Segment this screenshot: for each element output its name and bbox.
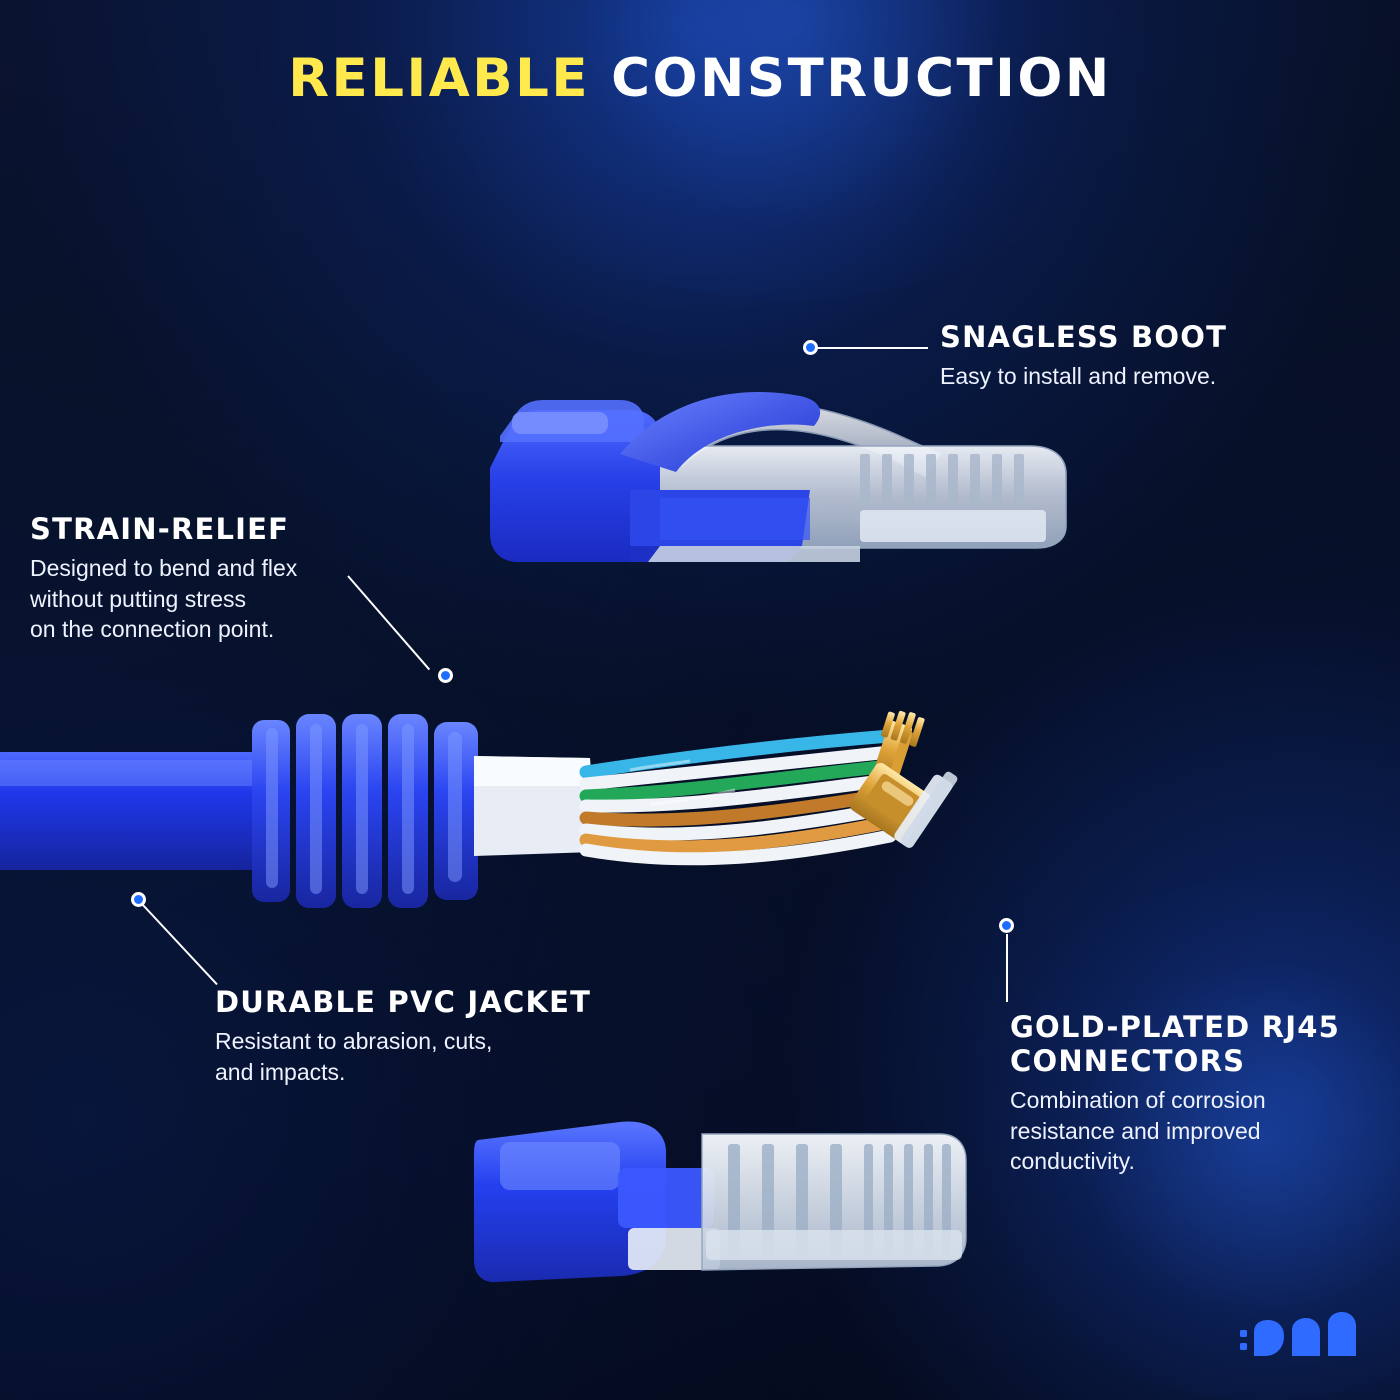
cable-assembly-illustration (0, 700, 1060, 930)
callout-title: STRAIN-RELIEF (30, 512, 460, 546)
callout-gold-plated-rj45-connectors: GOLD-PLATED RJ45 CONNECTORS Combination … (1010, 1010, 1370, 1177)
callout-title: SNAGLESS BOOT (940, 320, 1360, 354)
page-title-highlight: RELIABLE (288, 48, 590, 109)
callout-dot-snagless-boot (803, 340, 818, 355)
callout-body: Designed to bend and flex without puttin… (30, 553, 460, 644)
callout-durable-pvc-jacket: DURABLE PVC JACKET Resistant to abrasion… (215, 985, 685, 1087)
callout-title: GOLD-PLATED RJ45 CONNECTORS (1010, 1010, 1370, 1078)
callout-body: Easy to install and remove. (940, 361, 1360, 391)
callout-body: Combination of corrosion resistance and … (1010, 1085, 1370, 1176)
callout-dot-gold-plated-rj45 (999, 918, 1014, 933)
glow-top (420, 0, 1160, 300)
callout-dot-strain-relief (438, 668, 453, 683)
rj45-connector-bottom-illustration (470, 1110, 990, 1290)
callout-snagless-boot: SNAGLESS BOOT Easy to install and remove… (940, 320, 1360, 392)
callout-strain-relief: STRAIN-RELIEF Designed to bend and flex … (30, 512, 460, 644)
callout-leader-gold-plated-rj45 (1006, 934, 1008, 1002)
callout-title: DURABLE PVC JACKET (215, 985, 685, 1019)
page-title-rest: CONSTRUCTION (590, 48, 1112, 109)
page-title: RELIABLE CONSTRUCTION (0, 48, 1400, 109)
callout-body: Resistant to abrasion, cuts, and impacts… (215, 1026, 685, 1087)
callout-leader-snagless-boot (818, 347, 928, 349)
poster-canvas: RELIABLE CONSTRUCTION (0, 0, 1400, 1400)
brand-logo (1238, 1310, 1368, 1370)
